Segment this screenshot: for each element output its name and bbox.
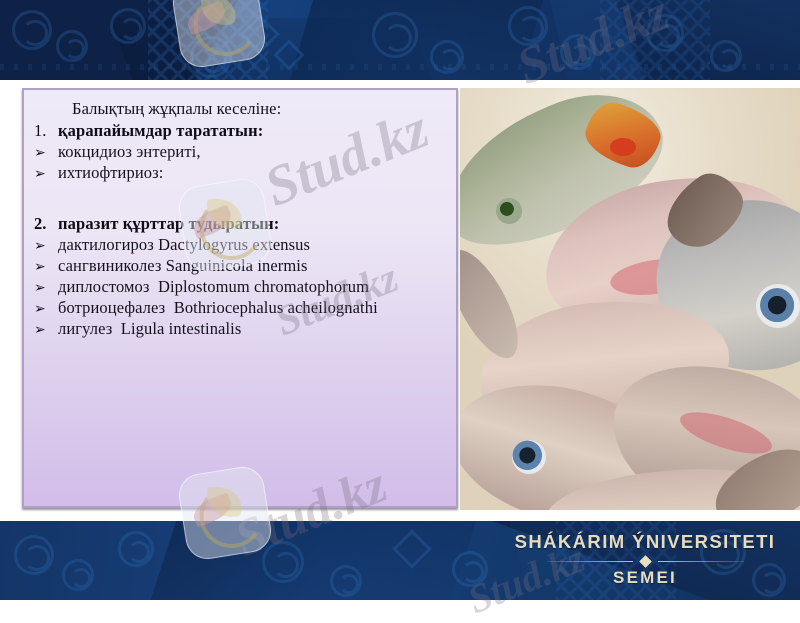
list-item-label: лигулез Ligula intestinalis [58, 319, 241, 339]
list-item: ➢ лигулез Ligula intestinalis [28, 319, 450, 339]
list-item-label: сангвиниколез Sanguinicola inermis [58, 256, 308, 276]
list-item: ➢ ботриоцефалез Bothriocephalus acheilog… [28, 298, 450, 318]
list-item: ➢ диплостомоз Diplostomum chromatophorum [28, 277, 450, 297]
ornament-strip [0, 64, 800, 70]
arrow-bullet-icon: ➢ [28, 239, 58, 253]
list-item-label: диплостомоз Diplostomum chromatophorum [58, 277, 369, 297]
ornament-spiral-icon [508, 6, 548, 46]
divider-line-right [658, 561, 744, 562]
list-item: ➢ сангвиниколез Sanguinicola inermis [28, 256, 450, 276]
ornament-spiral-icon [14, 535, 54, 575]
content-panel-body: Балықтың жұқпалы кеселіне: 1. қарапайымд… [24, 90, 456, 339]
fish-fin-red [610, 138, 636, 156]
section-1-heading: 1. қарапайымдар тарататын: [28, 121, 450, 141]
arrow-bullet-icon: ➢ [28, 281, 58, 295]
university-branding: SHÁKÁRIM ÝNIVERSITETI SEMEI [500, 531, 790, 588]
ornament-spiral-icon [262, 541, 304, 583]
fish-photograph [460, 88, 800, 510]
arrow-bullet-icon: ➢ [28, 323, 58, 337]
section-2-number: 2. [28, 214, 58, 234]
slide-header-band [0, 0, 800, 80]
arrow-bullet-icon: ➢ [28, 167, 58, 181]
section-2-heading: 2. паразит құрттар тудыратын: [28, 214, 450, 234]
section-spacer [28, 184, 450, 213]
section-1-number: 1. [28, 121, 58, 141]
list-item-label: ихтиофтириоз: [58, 163, 163, 183]
ornament-spiral-icon [62, 559, 94, 591]
arrow-bullet-icon: ➢ [28, 146, 58, 160]
fish-eye [496, 198, 522, 224]
brand-name: SHÁKÁRIM ÝNIVERSITETI [500, 531, 790, 553]
section-2-title: паразит құрттар тудыратын: [58, 214, 279, 234]
brand-divider [500, 557, 790, 566]
ornament-spiral-icon [452, 551, 488, 587]
arrow-bullet-icon: ➢ [28, 302, 58, 316]
list-item-label: кокцидиоз энтериті, [58, 142, 201, 162]
brand-city: SEMEI [500, 568, 790, 588]
diamond-icon [639, 555, 652, 568]
divider-line-left [547, 561, 633, 562]
fish-eye [512, 440, 546, 474]
ornament-spiral-icon [330, 565, 362, 597]
ornament-spiral-icon [12, 10, 52, 50]
section-1-title: қарапайымдар тарататын: [58, 121, 263, 141]
list-item-label: дактилогироз Dactylogyrus extensus [58, 235, 310, 255]
list-item: ➢ ихтиофтириоз: [28, 163, 450, 183]
arrow-bullet-icon: ➢ [28, 260, 58, 274]
list-item: ➢ кокцидиоз энтериті, [28, 142, 450, 162]
content-panel: Балықтың жұқпалы кеселіне: 1. қарапайымд… [22, 88, 458, 508]
ornament-spiral-icon [118, 531, 154, 567]
list-item-label: ботриоцефалез Bothriocephalus acheilogna… [58, 298, 378, 318]
ornament-spiral-icon [372, 12, 418, 58]
ornament-spiral-icon [110, 8, 146, 44]
ornament-spiral-icon [56, 30, 88, 62]
fish-eye [756, 284, 800, 328]
lead-heading: Балықтың жұқпалы кеселіне: [72, 99, 450, 119]
footer-facet-1 [141, 521, 480, 600]
list-item: ➢ дактилогироз Dactylogyrus extensus [28, 235, 450, 255]
